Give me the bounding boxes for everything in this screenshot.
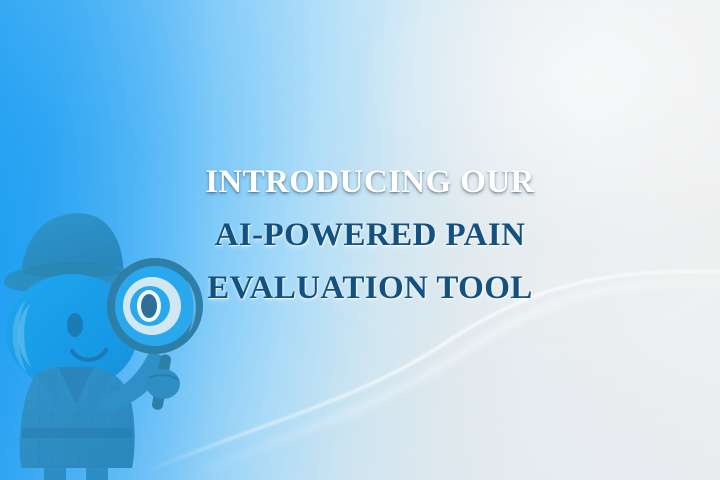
mascot-hand (146, 369, 180, 399)
magnifier-pupil (141, 294, 157, 318)
headline-line-3: EVALUATION TOOL (200, 262, 540, 315)
mascot-eye (67, 313, 83, 337)
headline-line-2: AI-POWERED PAIN (200, 209, 540, 262)
slide-canvas: INTRODUCING OUR AI-POWERED PAIN EVALUATI… (0, 0, 720, 480)
mascot-legs (44, 468, 108, 480)
coat-belt (22, 428, 132, 438)
headline-block: INTRODUCING OUR AI-POWERED PAIN EVALUATI… (200, 156, 540, 315)
headline-line-1: INTRODUCING OUR (200, 156, 540, 209)
detective-mascot (0, 206, 215, 480)
